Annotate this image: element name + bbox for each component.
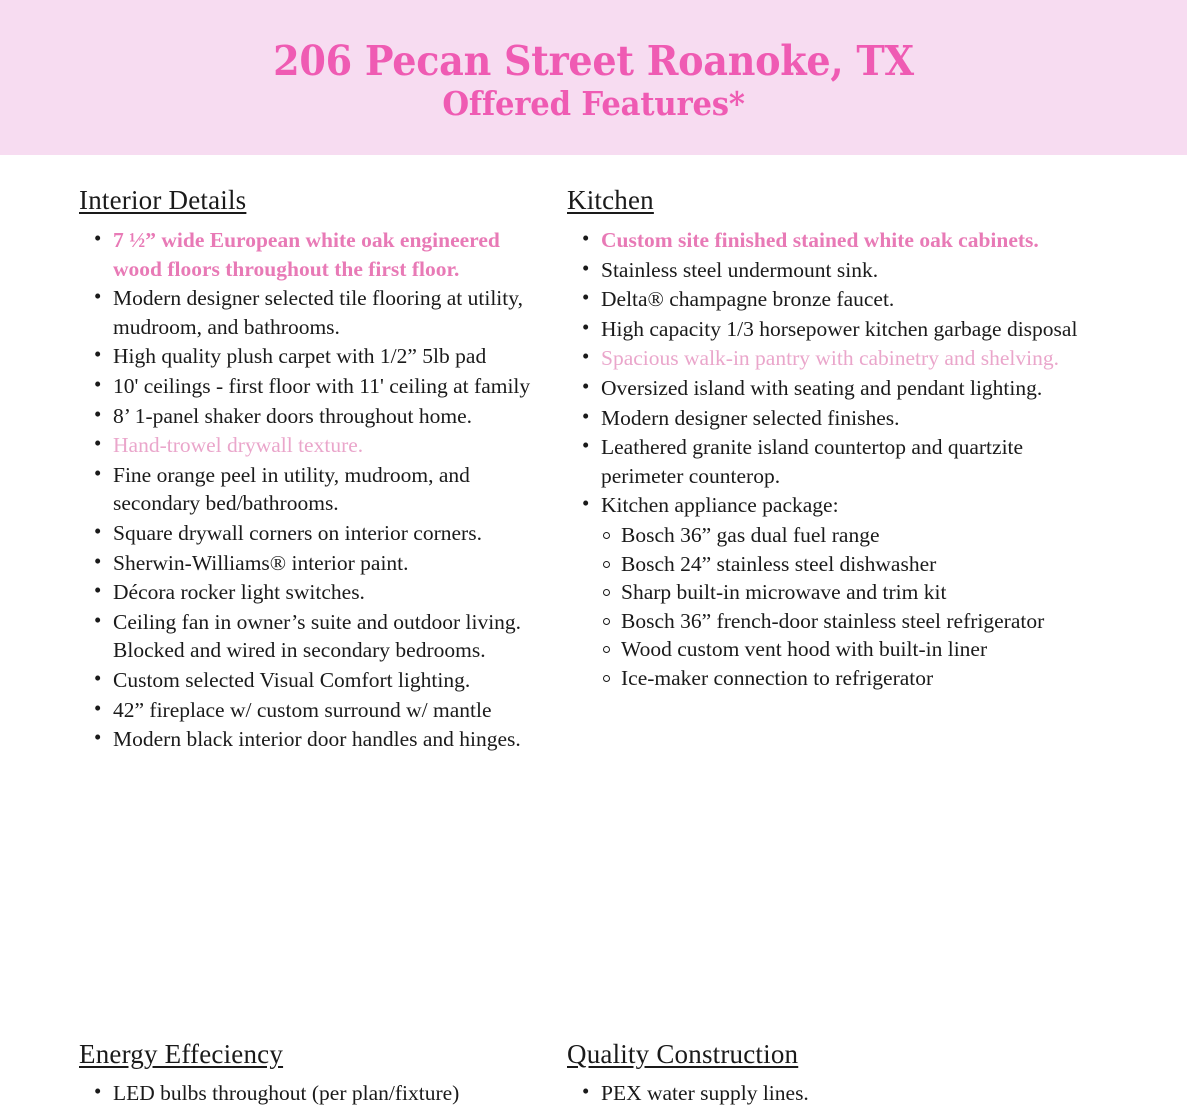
list-item: Bosch 36” french-door stainless steel re… (603, 607, 1107, 636)
list-item: Custom selected Visual Comfort lighting. (79, 666, 554, 695)
interior-details-list: 7 ½” wide European white oak engineered … (79, 226, 554, 754)
list-item: 42” fireplace w/ custom surround w/ mant… (79, 696, 554, 725)
list-item: Custom site finished stained white oak c… (567, 226, 1107, 255)
list-item: LED bulbs throughout (per plan/fixture) (79, 1079, 554, 1108)
list-item: Bosch 36” gas dual fuel range (603, 521, 1107, 550)
column-kitchen: Kitchen Custom site finished stained whi… (554, 185, 1107, 755)
kitchen-appliance-package-list: Bosch 36” gas dual fuel range Bosch 24” … (567, 521, 1107, 693)
list-item: Oversized island with seating and pendan… (567, 374, 1107, 403)
column-interior-details: Interior Details 7 ½” wide European whit… (0, 185, 554, 755)
document-body: Interior Details 7 ½” wide European whit… (0, 155, 1187, 755)
list-item: Modern designer selected tile flooring a… (79, 284, 554, 341)
document-header-band: 206 Pecan Street Roanoke, TX Offered Fea… (0, 0, 1187, 155)
list-item: Leathered granite island countertop and … (567, 433, 1107, 490)
list-item: PEX water supply lines. (567, 1079, 1107, 1108)
section-heading-kitchen: Kitchen (567, 185, 1107, 216)
list-item: High capacity 1/3 horsepower kitchen gar… (567, 315, 1107, 344)
list-item: Spacious walk-in pantry with cabinetry a… (567, 344, 1107, 373)
energy-efficiency-list: LED bulbs throughout (per plan/fixture) (79, 1079, 554, 1108)
list-item: High quality plush carpet with 1/2” 5lb … (79, 342, 554, 371)
list-item: Ceiling fan in owner’s suite and outdoor… (79, 608, 554, 665)
list-item: Bosch 24” stainless steel dishwasher (603, 550, 1107, 579)
page-subtitle: Offered Features* (442, 87, 744, 122)
list-item: Décora rocker light switches. (79, 578, 554, 607)
section-heading-interior-details: Interior Details (79, 185, 554, 216)
list-item: Sharp built-in microwave and trim kit (603, 578, 1107, 607)
quality-construction-list: PEX water supply lines. (567, 1079, 1107, 1108)
feature-columns: Interior Details 7 ½” wide European whit… (0, 155, 1187, 755)
section-heading-energy-efficiency: Energy Effeciency (79, 1039, 554, 1070)
list-item: Modern black interior door handles and h… (79, 725, 554, 754)
list-item: Hand-trowel drywall texture. (79, 431, 554, 460)
list-item: Modern designer selected finishes. (567, 404, 1107, 433)
list-item: 10' ceilings - first floor with 11' ceil… (79, 372, 554, 401)
list-item: Sherwin-Williams® interior paint. (79, 549, 554, 578)
list-item: 8’ 1-panel shaker doors throughout home. (79, 402, 554, 431)
list-item: Fine orange peel in utility, mudroom, an… (79, 461, 554, 518)
column-quality-construction: Quality Construction PEX water supply li… (554, 1039, 1107, 1109)
list-item: Wood custom vent hood with built-in line… (603, 635, 1107, 664)
list-item: Square drywall corners on interior corne… (79, 519, 554, 548)
bottom-columns: Energy Effeciency LED bulbs throughout (… (0, 1039, 1187, 1109)
list-item: 7 ½” wide European white oak engineered … (79, 226, 554, 283)
list-item: Ice-maker connection to refrigerator (603, 664, 1107, 693)
column-energy-efficiency: Energy Effeciency LED bulbs throughout (… (0, 1039, 554, 1109)
section-heading-quality-construction: Quality Construction (567, 1039, 1107, 1070)
page-title: 206 Pecan Street Roanoke, TX (273, 40, 914, 83)
kitchen-list: Custom site finished stained white oak c… (567, 226, 1107, 520)
list-item: Stainless steel undermount sink. (567, 256, 1107, 285)
list-item: Delta® champagne bronze faucet. (567, 285, 1107, 314)
list-item: Kitchen appliance package: (567, 491, 1107, 520)
